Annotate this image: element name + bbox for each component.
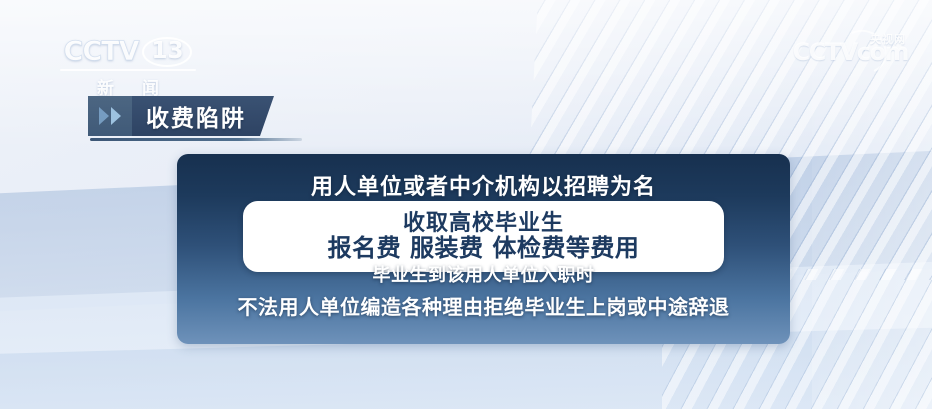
channel-number-badge: 13 [142,37,192,67]
chevron-right-icon-2 [111,107,121,125]
card-line-1: 用人单位或者中介机构以招聘为名 [177,169,790,201]
banner-plate: 收费陷阱 [88,96,274,136]
section-title-banner: 收费陷阱 [88,96,274,136]
cctv13-logo-row: CCTV 13 [52,36,204,67]
chevron-right-icon-1 [99,107,109,125]
banner-underline [90,138,302,141]
card-line-5: 不法用人单位编造各种理由拒绝毕业生上岗或中途辞退 [177,291,790,320]
cctvcom-chinese-label: 央视网 [870,31,906,47]
banner-arrow-group [88,96,132,136]
card-line-4: 毕业生到该用人单位入职时 [177,261,790,287]
cctvcom-watermark: 央视网 CCTVcom [793,40,908,64]
highlight-line-2: 报名费 服装费 体检费等费用 [328,236,640,261]
logo-divider-rule [60,69,196,71]
broadcast-news-graphic: CCTV 13 新 闻 央视网 CCTVcom 收费陷阱 用人单位或者中介机构以… [0,0,932,409]
highlight-line-1: 收取高校毕业生 [403,212,564,235]
banner-title-text: 收费陷阱 [146,99,246,133]
cctv-wordmark: CCTV [64,36,139,67]
info-card: 用人单位或者中介机构以招聘为名 收取高校毕业生 报名费 服装费 体检费等费用 毕… [177,154,790,344]
cctv13-channel-logo: CCTV 13 新 闻 [52,36,204,99]
